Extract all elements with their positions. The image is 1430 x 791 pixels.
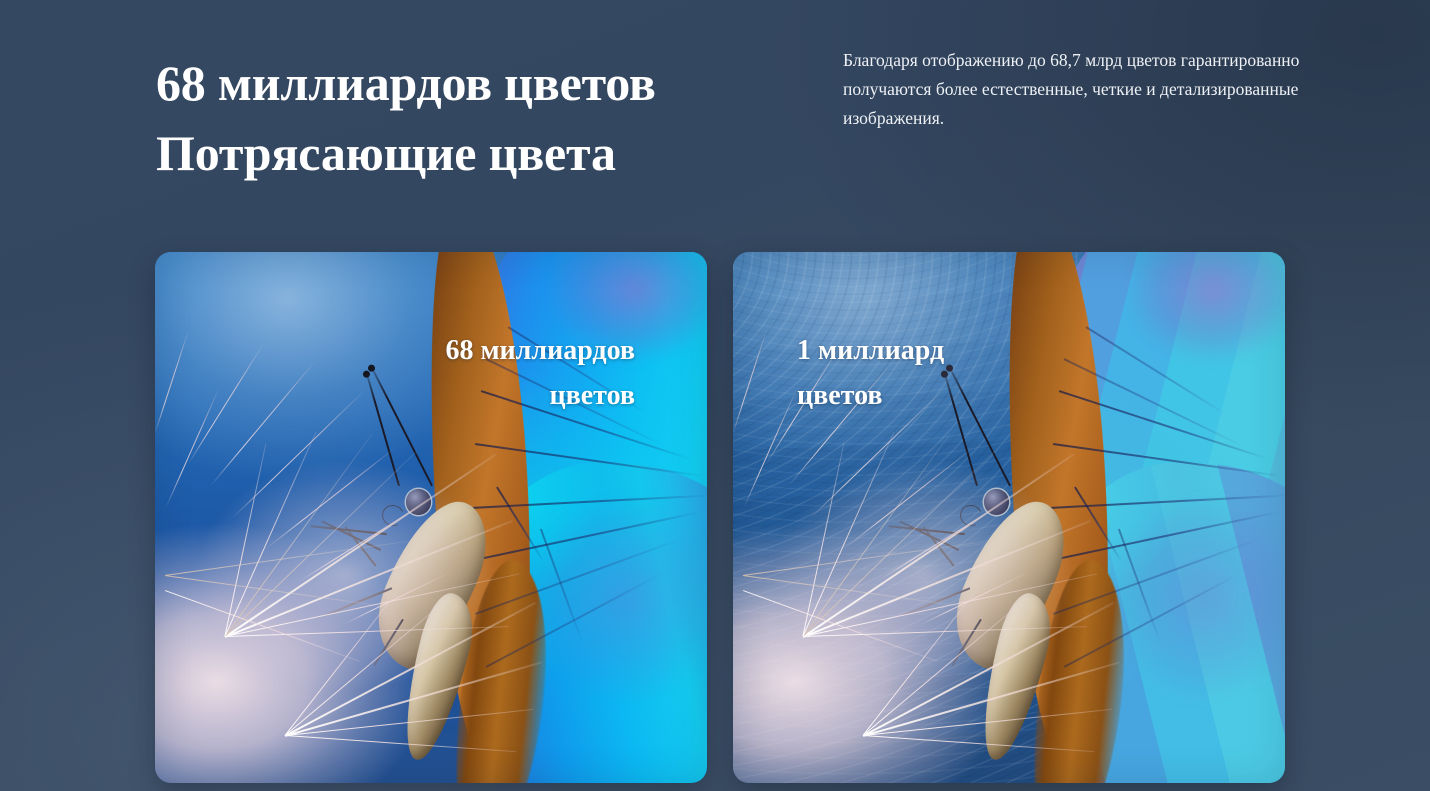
- comparison-panel-68-billion[interactable]: 68 миллиардов цветов: [155, 252, 707, 783]
- dandelion-seed-head: [733, 422, 1130, 783]
- intro-paragraph: Благодаря отображению до 68,7 млрд цвето…: [843, 46, 1305, 133]
- panel-caption-1-billion: 1 миллиард цветов: [797, 328, 944, 419]
- caption-line-1: 68 миллиардов: [445, 328, 635, 373]
- caption-line-2: цветов: [797, 373, 944, 418]
- wing-purple-tint-upper: [1130, 252, 1285, 369]
- page-root: 68 миллиардов цветов Потрясающие цвета Б…: [0, 0, 1430, 791]
- dandelion-seed-head: [155, 422, 552, 783]
- image-comparison-row: 68 миллиардов цветов: [155, 252, 1286, 783]
- comparison-panel-1-billion[interactable]: 1 миллиард цветов: [733, 252, 1285, 783]
- page-title-line-1-rest: миллиардов цветов: [206, 55, 656, 111]
- page-title-line-2: Потрясающие цвета: [156, 118, 796, 188]
- caption-line-1: 1 миллиард: [797, 328, 944, 373]
- page-title-number: 68: [156, 55, 206, 111]
- page-title-line-1: 68 миллиардов цветов: [156, 48, 796, 118]
- header-section: 68 миллиардов цветов Потрясающие цвета Б…: [0, 0, 1430, 250]
- panel-caption-68-billion: 68 миллиардов цветов: [445, 328, 635, 419]
- page-title: 68 миллиардов цветов Потрясающие цвета: [156, 48, 796, 188]
- caption-line-2: цветов: [445, 373, 635, 418]
